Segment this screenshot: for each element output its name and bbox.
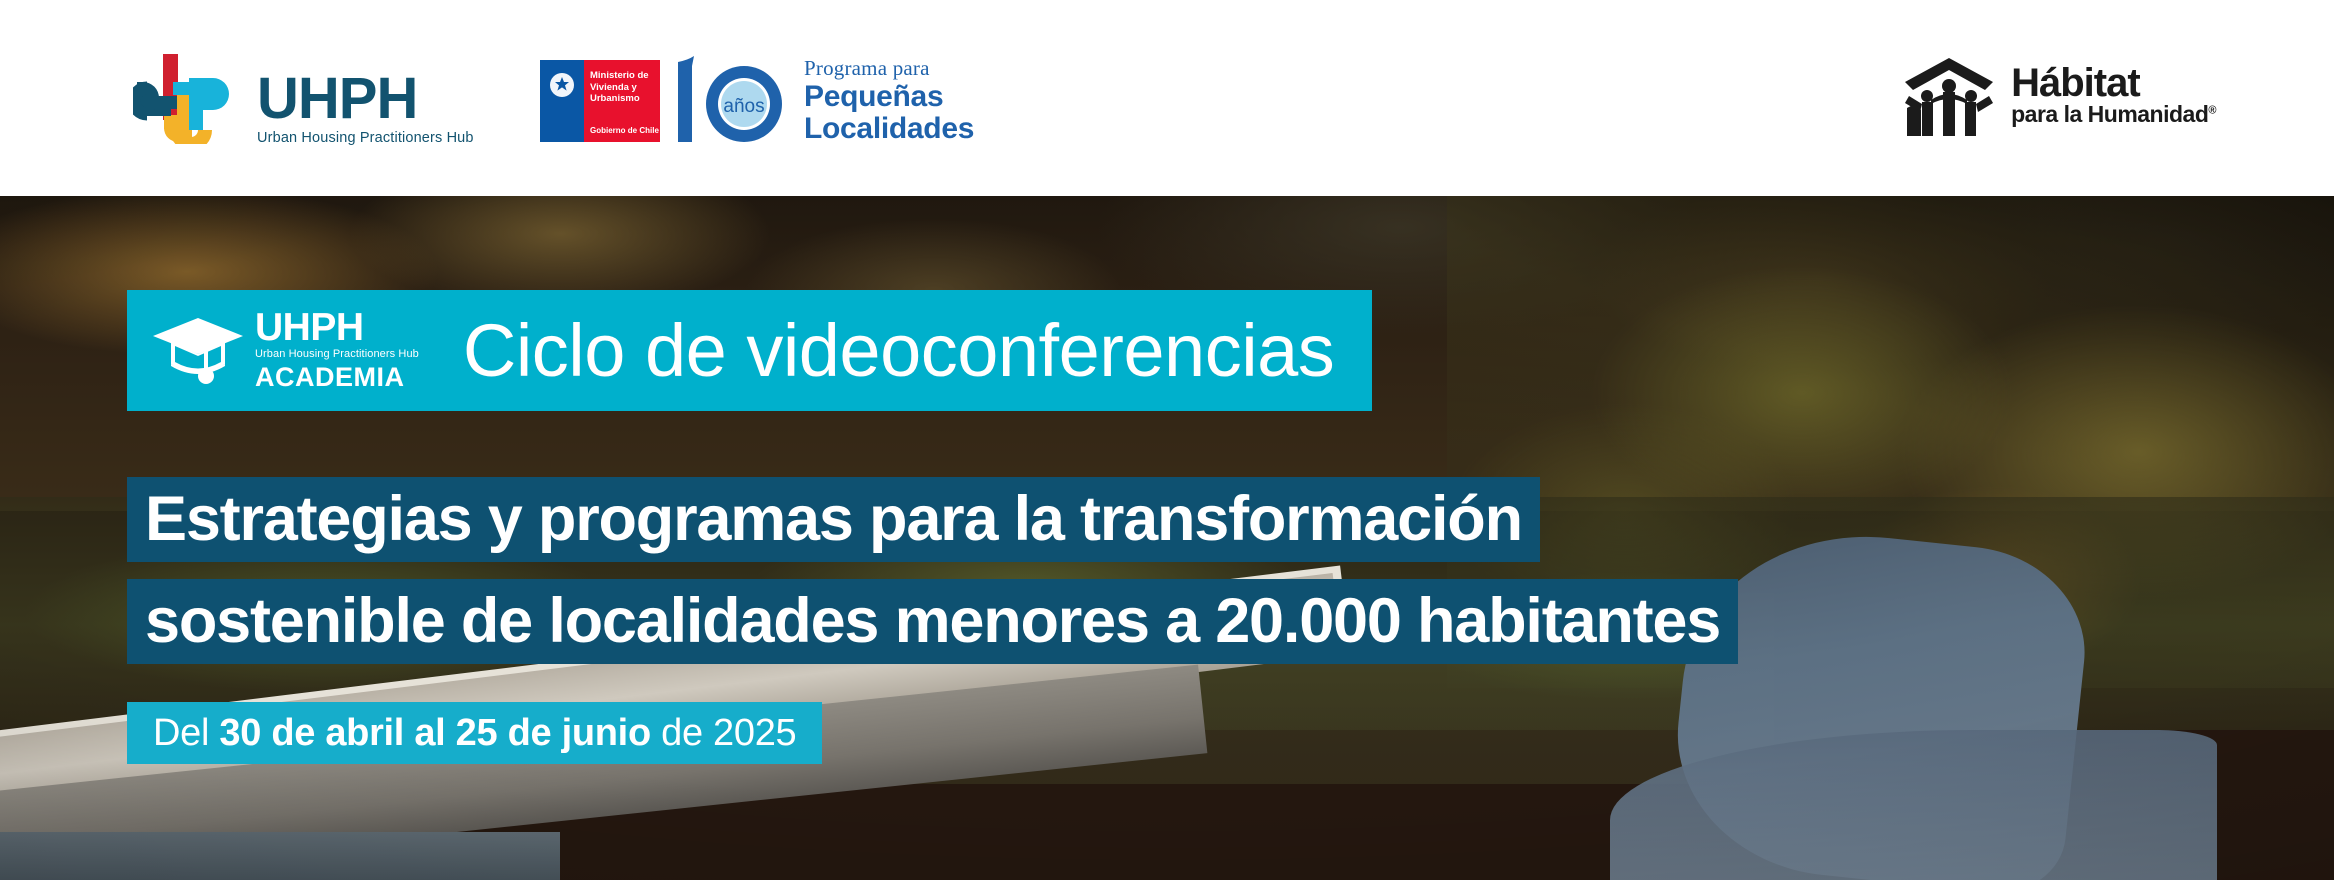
cycle-title: Ciclo de videoconferencias <box>463 314 1334 388</box>
minvu-government-text: Gobierno de Chile <box>590 126 659 135</box>
date-range: 30 de abril al 25 de junio <box>219 712 650 754</box>
academia-tagline: Urban Housing Practitioners Hub <box>255 348 419 361</box>
minvu-flag-block: Ministerio de Vivienda y Urbanismo Gobie… <box>540 60 660 142</box>
logo-bar: UHPH Urban Housing Practitioners Hub Min… <box>0 0 2334 196</box>
headline-text-line2: sostenible de localidades menores a 20.0… <box>145 590 1720 653</box>
minvu-pequenas-localidades-logo: Ministerio de Vivienda y Urbanismo Gobie… <box>540 56 974 146</box>
date-prefix: Del <box>153 712 219 754</box>
habitat-house-people-icon <box>1901 52 1997 138</box>
minvu-ministry-text: Ministerio de Vivienda y Urbanismo <box>590 70 649 105</box>
uhph-interlocking-h-b-mark <box>133 48 237 144</box>
svg-text:años: años <box>723 96 764 117</box>
habitat-line-1: Hábitat <box>2011 64 2216 102</box>
chile-coat-of-arms-icon <box>549 72 575 98</box>
academia-label: ACADEMIA <box>255 363 419 393</box>
headline-text-line1: Estrategias y programas para la transfor… <box>145 488 1522 551</box>
date-suffix: de 2025 <box>651 712 797 754</box>
hero-banner: UHPH Urban Housing Practitioners Hub ACA… <box>0 196 2334 880</box>
headline-bar-line1: Estrategias y programas para la transfor… <box>127 477 1540 562</box>
program-name-text: Programa para Pequeñas Localidades <box>804 57 974 144</box>
habitat-line-2: para la Humanidad® <box>2011 102 2216 126</box>
cycle-banner: UHPH Urban Housing Practitioners Hub ACA… <box>127 290 1372 411</box>
poster-root: UHPH Urban Housing Practitioners Hub Min… <box>0 0 2334 880</box>
program-line-1: Programa para <box>804 57 974 81</box>
graduation-cap-icon <box>151 312 245 388</box>
ten-years-icon: años <box>672 56 790 146</box>
headline-bar-line2: sostenible de localidades menores a 20.0… <box>127 579 1738 664</box>
program-line-2: Pequeñas <box>804 81 974 113</box>
minvu-flag-blue <box>540 60 584 142</box>
uhph-academia-logo: UHPH Urban Housing Practitioners Hub ACA… <box>151 309 419 393</box>
date-text: Del 30 de abril al 25 de junio de 2025 <box>153 712 796 755</box>
program-line-3: Localidades <box>804 113 974 145</box>
habitat-logo: Hábitat para la Humanidad® <box>1901 52 2216 138</box>
date-bar: Del 30 de abril al 25 de junio de 2025 <box>127 702 822 764</box>
uhph-tagline: Urban Housing Practitioners Hub <box>257 130 474 146</box>
uhph-logo: UHPH Urban Housing Practitioners Hub <box>133 48 474 144</box>
academia-wordmark: UHPH <box>255 309 419 346</box>
uhph-wordmark: UHPH <box>257 72 474 127</box>
minvu-flag-red: Ministerio de Vivienda y Urbanismo Gobie… <box>584 60 660 142</box>
registered-mark: ® <box>2208 104 2216 116</box>
